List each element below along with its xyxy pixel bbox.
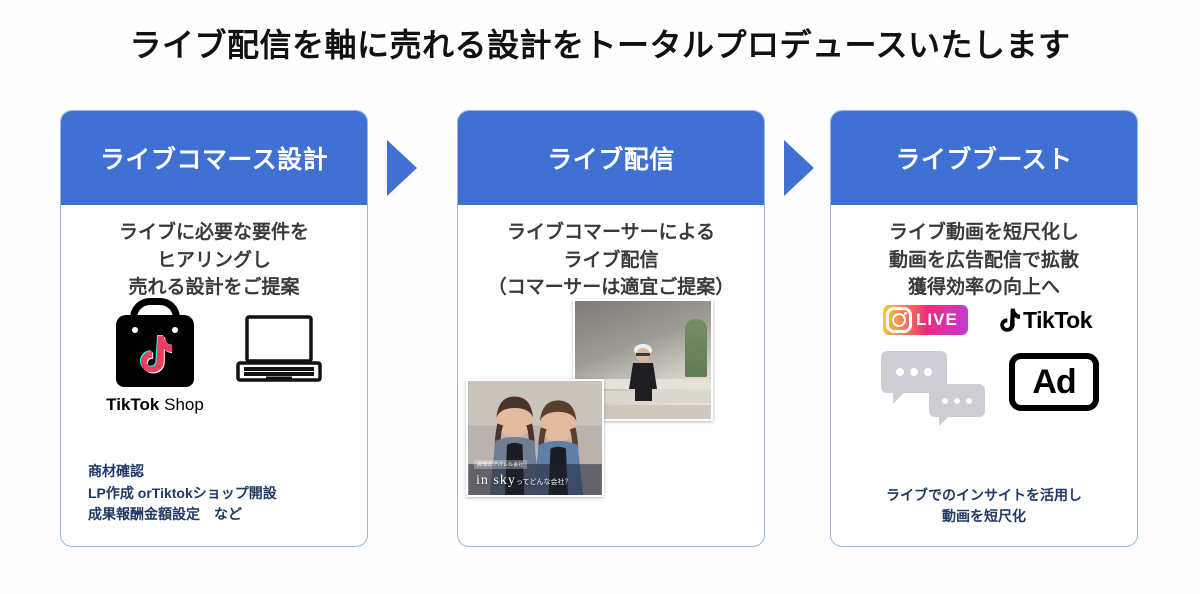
chat-bubbles-icon xyxy=(881,351,991,423)
card-description: ライブ動画を短尺化し 動画を広告配信で拡散 獲得効率の向上へ xyxy=(889,219,1079,302)
ad-badge-icon: Ad xyxy=(1009,353,1099,411)
chat-dot xyxy=(954,398,960,404)
instagram-live-badge: LIVE xyxy=(883,305,968,335)
chat-bubble-small xyxy=(929,384,985,417)
card-header: ライブコマース設計 xyxy=(61,111,367,205)
bag-stud-left-icon xyxy=(132,327,138,333)
chat-dot xyxy=(896,368,904,376)
card-header-label: ライブコマース設計 xyxy=(100,140,328,176)
chat-dot xyxy=(910,368,918,376)
laptop-icon xyxy=(236,315,322,383)
ad-label: Ad xyxy=(1032,365,1075,399)
process-card-live-streaming: ライブ配信 ライブコマーサーによる ライブ配信 （コマーサーは適宜ご提案） xyxy=(457,110,765,547)
card-header: ライブ配信 xyxy=(458,111,764,205)
photo-caption-main-suffix: ってどんな会社？ xyxy=(516,478,572,486)
card-body: ライブに必要な要件を ヒアリングし 売れる設計をご提案 TikTok Shop xyxy=(61,205,367,546)
process-card-live-commerce-design: ライブコマース設計 ライブに必要な要件を ヒアリングし 売れる設計をご提案 xyxy=(60,110,368,547)
bag-stud-right-icon xyxy=(172,327,178,333)
tiktok-note-icon xyxy=(999,308,1020,334)
card-header: ライブブースト xyxy=(831,111,1137,205)
card-header-label: ライブブースト xyxy=(895,140,1072,176)
instagram-live-label: LIVE xyxy=(916,310,966,330)
card-body: ライブコマーサーによる ライブ配信 （コマーサーは適宜ご提案） xyxy=(458,205,764,546)
tiktok-shop-label-bold: TikTok xyxy=(106,395,159,414)
card-description: ライブに必要な要件を ヒアリングし 売れる設計をご提案 xyxy=(119,219,309,302)
tiktok-note-icon xyxy=(138,335,172,375)
photo-collage: 高知のアパレル会社 in skyってどんな会社？ xyxy=(458,299,764,529)
tiktok-shop-logo: TikTok Shop xyxy=(106,315,204,415)
tiktok-shop-label-light: Shop xyxy=(159,395,203,414)
photo-caption-small: 高知のアパレル会社 xyxy=(474,460,527,469)
flow-arrow-right-icon xyxy=(387,140,417,196)
photo-caption-main-text: in sky xyxy=(476,473,516,488)
photo-plant xyxy=(685,319,707,377)
slide-canvas: ライブ配信を軸に売れる設計をトータルプロデュースいたします ライブコマース設計 … xyxy=(0,0,1200,594)
tiktok-shop-bag-icon xyxy=(116,315,194,387)
tiktok-shop-label: TikTok Shop xyxy=(106,395,204,415)
card-body: ライブ動画を短尺化し 動画を広告配信で拡散 獲得効率の向上へ LIVE TikT… xyxy=(831,205,1137,546)
photo-caption-main: in skyってどんな会社？ xyxy=(476,473,572,489)
card-footer-notes: 商材確認 LP作成 orTiktokショップ開設 成果報酬金額設定 など xyxy=(61,461,367,526)
chat-dot xyxy=(966,398,972,404)
seated-person-figure xyxy=(623,341,663,403)
tiktok-label: TikTok xyxy=(1023,307,1092,334)
instagram-icon xyxy=(886,307,912,333)
flow-arrow-right-icon xyxy=(784,140,814,196)
page-title: ライブ配信を軸に売れる設計をトータルプロデュースいたします xyxy=(0,20,1200,66)
tiktok-logo: TikTok xyxy=(999,307,1092,334)
chat-dot xyxy=(942,398,948,404)
card-3-icon-grid: LIVE TikTok xyxy=(831,305,1137,435)
card-1-icon-row: TikTok Shop xyxy=(61,315,367,415)
chat-dot xyxy=(924,368,932,376)
process-card-live-boost: ライブブースト ライブ動画を短尺化し 動画を広告配信で拡散 獲得効率の向上へ L… xyxy=(830,110,1138,547)
live-commerce-hosts-photo: 高知のアパレル会社 in skyってどんな会社？ xyxy=(466,379,604,497)
card-header-label: ライブ配信 xyxy=(547,140,675,176)
card-footer-notes: ライブでのインサイトを活用し 動画を短尺化 xyxy=(831,485,1137,528)
card-description: ライブコマーサーによる ライブ配信 （コマーサーは適宜ご提案） xyxy=(488,219,735,302)
